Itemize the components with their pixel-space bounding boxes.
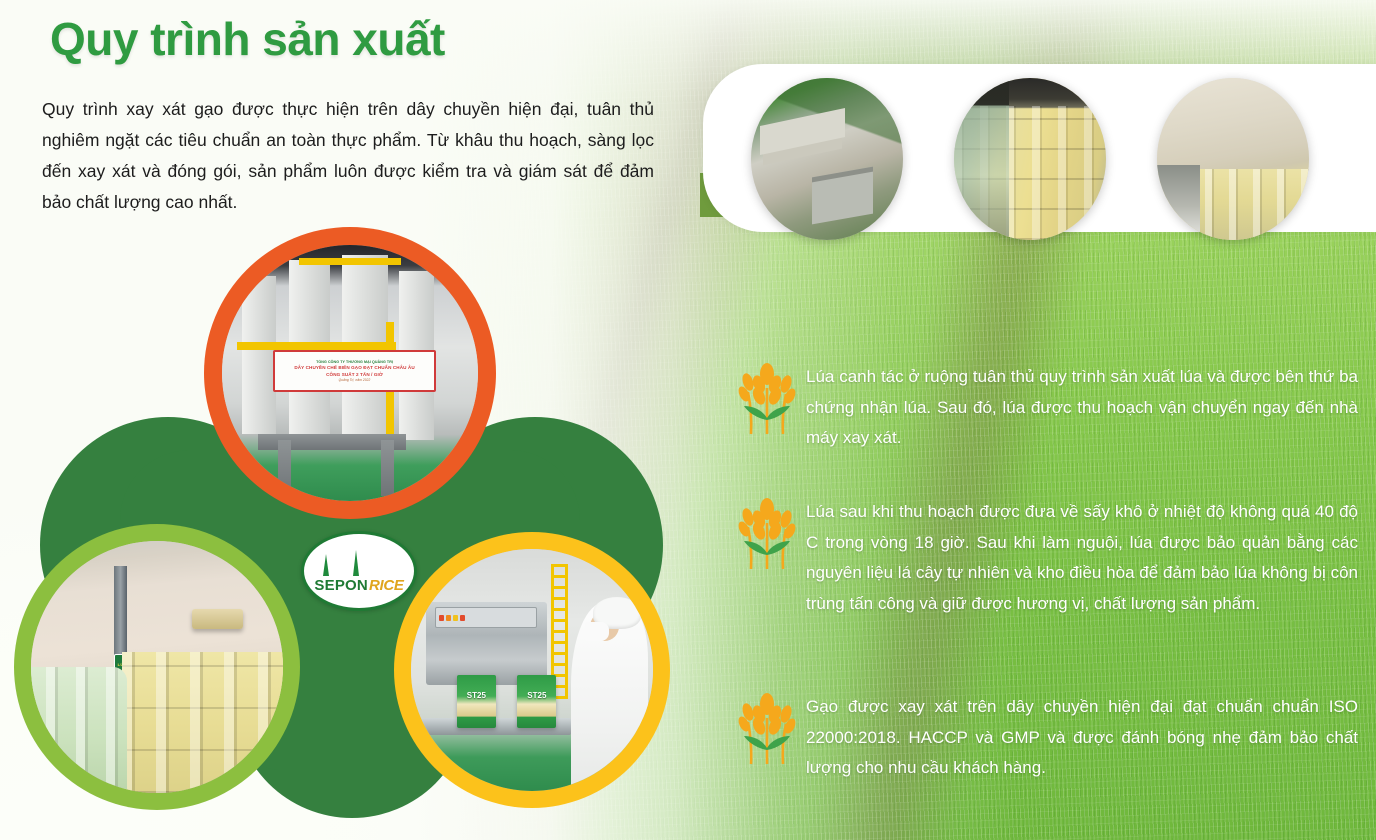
rice-bag: ST25 <box>457 675 496 728</box>
factory-banner: TỔNG CÔNG TY THƯƠNG MẠI QUẢNG TRỊ DÂY CH… <box>273 350 436 392</box>
step-text-2: Lúa sau khi thu hoạch được đưa về sấy kh… <box>806 497 1358 619</box>
wheat-icon <box>736 358 798 436</box>
sepon-rice-logo[interactable]: SEPON RICE <box>301 531 417 611</box>
page-title: Quy trình sản xuất <box>50 12 445 66</box>
rice-bag-label: ST25 <box>517 691 556 700</box>
mountains-icon <box>323 550 395 576</box>
warehouse-bags-image <box>954 78 1106 240</box>
top-photo-storage-room[interactable] <box>1157 78 1309 240</box>
step-text-1: Lúa canh tác ở ruộng tuân thủ quy trình … <box>806 362 1358 454</box>
milling-line-photo[interactable]: TỔNG CÔNG TY THƯƠNG MẠI QUẢNG TRỊ DÂY CH… <box>222 245 478 501</box>
packing-line-photo[interactable]: ST25 ST25 <box>411 549 653 791</box>
top-photo-aerial-factory[interactable] <box>751 78 903 240</box>
face-mask-icon <box>585 622 609 641</box>
rice-bag: ST25 <box>517 675 556 728</box>
warehouse-photo[interactable]: LÚA HỮU CƠ <box>31 541 283 793</box>
logo-name-secondary: RICE <box>369 577 404 594</box>
aerial-factory-image <box>751 78 903 240</box>
machine-control-panel <box>435 607 537 628</box>
packing-line-image: ST25 ST25 <box>411 549 653 791</box>
logo-name-primary: SEPON <box>314 577 368 594</box>
rice-bag-label: ST25 <box>457 691 496 700</box>
storage-room-image <box>1157 78 1309 240</box>
air-conditioner-icon <box>192 609 242 629</box>
banner-line-4: Quảng Trị, năm 2022 <box>339 378 371 382</box>
warehouse-image: LÚA HỮU CƠ <box>31 541 283 793</box>
wheat-icon <box>736 688 798 766</box>
wheat-icon <box>736 493 798 571</box>
step-text-3: Gạo được xay xát trên dây chuyền hiện đạ… <box>806 692 1358 784</box>
top-photo-warehouse-bags[interactable] <box>954 78 1106 240</box>
banner-line-3: CÔNG SUẤT 2 TẤN / GIỜ <box>326 372 383 377</box>
banner-line-1: TỔNG CÔNG TY THƯƠNG MẠI QUẢNG TRỊ <box>316 360 393 364</box>
banner-line-2: DÂY CHUYỀN CHẾ BIẾN GẠO ĐẠT CHUẨN CHÂU Â… <box>294 365 414 370</box>
green-jumbo-bags <box>31 667 127 793</box>
milling-line-image: TỔNG CÔNG TY THƯƠNG MẠI QUẢNG TRỊ DÂY CH… <box>222 245 478 501</box>
intro-paragraph: Quy trình xay xát gạo được thực hiện trê… <box>42 94 654 218</box>
yellow-jumbo-bags <box>122 652 283 793</box>
infographic-canvas: Quy trình sản xuất Quy trình xay xát gạo… <box>0 0 1376 840</box>
